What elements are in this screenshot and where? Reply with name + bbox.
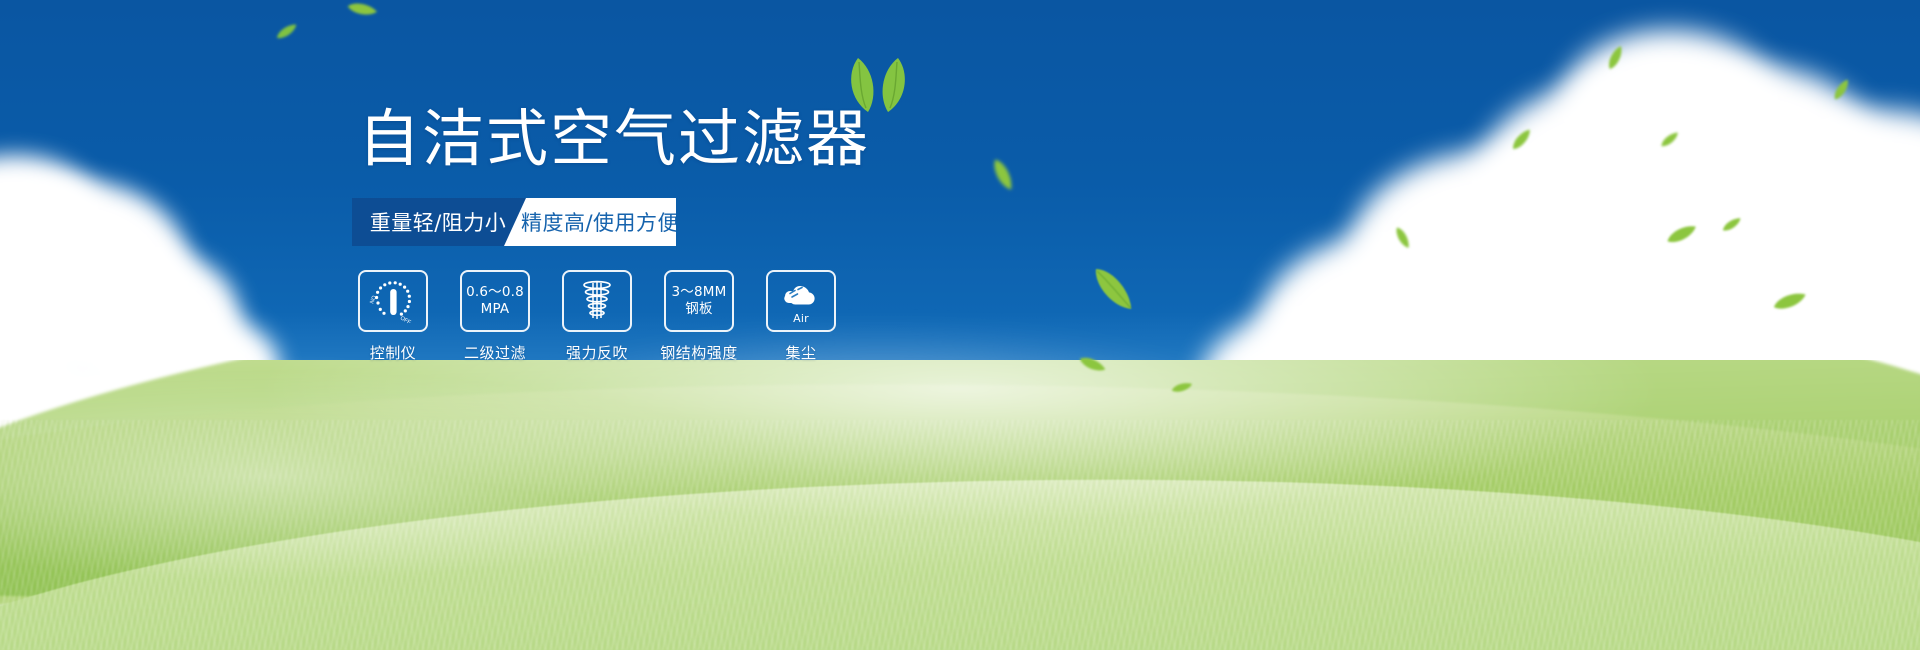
grass-field [0, 360, 1920, 650]
feature-label-controller: 控制仪 [370, 342, 417, 363]
feature-box-pressure: 0.6～0.8 MPA [460, 270, 530, 332]
feature-box-backblow [562, 270, 632, 332]
feature-steel-structure-strength[interactable]: 3～8MM 钢板 钢结构强度 [664, 270, 734, 363]
grass-texture [0, 420, 1920, 650]
pressure-value: 0.6～0.8 [466, 284, 524, 301]
feature-controller[interactable]: NO OFF 控制仪 [358, 270, 428, 363]
floating-leaf-icon [274, 22, 301, 42]
feature-two-stage-filtration[interactable]: 0.6～0.8 MPA 二级过滤 [460, 270, 530, 363]
feature-label-two-stage-filtration: 二级过滤 [464, 342, 526, 363]
tab-lightweight-low-resistance[interactable]: 重量轻/阻力小 [352, 198, 530, 246]
floating-leaf-icon [1087, 260, 1137, 320]
feature-strong-backblow[interactable]: 强力反吹 [562, 270, 632, 363]
tab-bar: 重量轻/阻力小 精度高/使用方便 [352, 198, 672, 246]
air-cloud-icon [776, 277, 826, 311]
gauge-icon: NO OFF [365, 277, 421, 325]
feature-label-strong-backblow: 强力反吹 [566, 342, 628, 363]
pressure-unit: MPA [481, 301, 510, 318]
feature-box-controller: NO OFF [358, 270, 428, 332]
air-label: Air [793, 312, 809, 326]
page-title-wrap: 自洁式空气过滤器 [352, 108, 870, 170]
gauge-off-label: OFF [399, 315, 412, 325]
banner-content: 自洁式空气过滤器 重量轻/阻力小 精度高/使用方便 [352, 108, 1132, 246]
feature-dust-collection[interactable]: Air 集尘 [766, 270, 836, 363]
hero-banner: 自洁式空气过滤器 重量轻/阻力小 精度高/使用方便 [0, 0, 1920, 650]
feature-list: NO OFF 控制仪 0.6～0.8 MPA 二级过滤 [358, 270, 836, 363]
backblow-coil-icon [574, 278, 620, 324]
tab-high-precision-easy-use[interactable]: 精度高/使用方便 [504, 198, 676, 246]
sprout-leaves-icon [838, 56, 918, 112]
feature-label-dust-collection: 集尘 [785, 342, 816, 363]
page-title: 自洁式空气过滤器 [358, 108, 870, 170]
feature-label-steel-structure-strength: 钢结构强度 [660, 342, 738, 363]
floating-leaf-icon [345, 0, 379, 22]
steel-thickness: 3～8MM [672, 284, 727, 301]
feature-box-air: Air [766, 270, 836, 332]
feature-box-steel: 3～8MM 钢板 [664, 270, 734, 332]
steel-material: 钢板 [685, 301, 712, 318]
